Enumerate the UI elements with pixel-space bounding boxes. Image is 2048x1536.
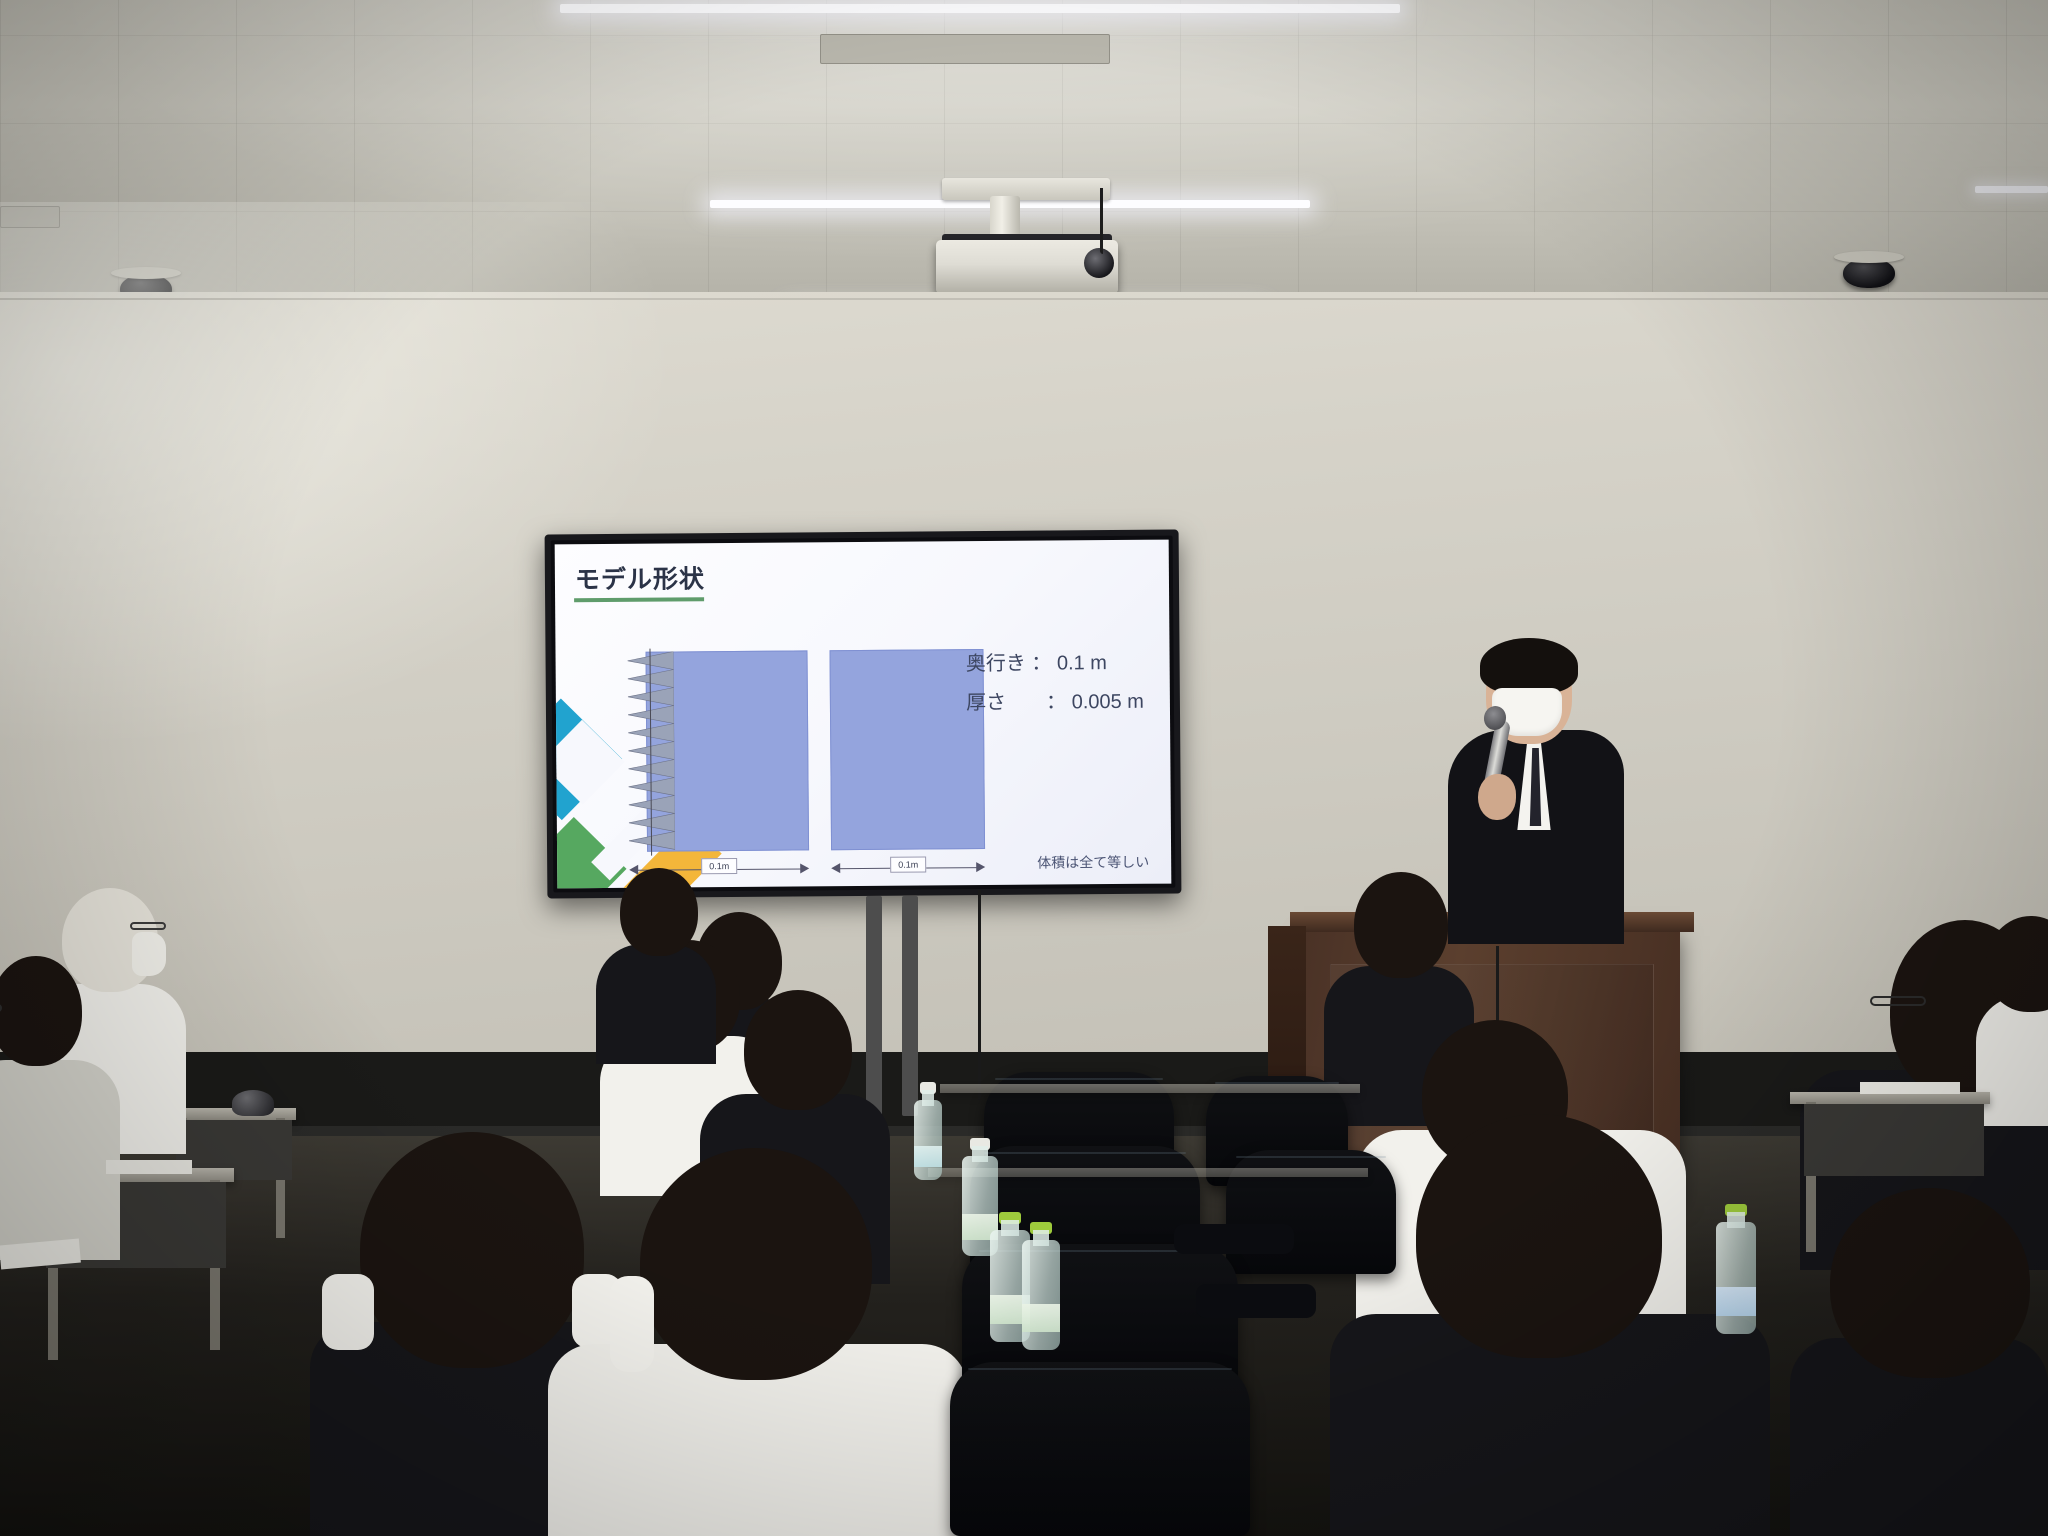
figure-flat-plate: 0.1m 平板 [829,649,985,850]
presenter-hand [1478,774,1516,820]
audience-face-mask [322,1274,374,1350]
chair-rim [968,1368,1232,1370]
paper-sheet [106,1160,192,1174]
audience-head [1986,916,2048,1012]
water-bottle-4 [1022,1222,1060,1350]
dimension-arrow-right-icon [976,862,985,872]
ceiling-light-6 [1975,186,2048,193]
audience-head [0,956,82,1066]
audience-shirt [0,1060,120,1260]
presentation-slide: モデル形状 [555,540,1172,889]
water-bottle-1 [914,1082,942,1180]
audience-head [620,868,698,956]
audience-member-right-edge [1976,916,2048,1116]
audience-suit [596,944,716,1064]
projector-lens-icon [1084,248,1114,278]
audience-member-far-right-front [1790,1188,2048,1536]
figure-notched-plate: 0.1m 切欠き翼平板 [628,650,810,851]
slide-title-underline [574,597,704,602]
audience-shirt [1976,996,2048,1126]
wall-seam [0,298,2048,300]
audience-member-right-front [1330,1114,1770,1536]
flat-plate-dimension: 0.1m [831,857,985,880]
audience-head [1416,1114,1662,1358]
audience-head [640,1148,872,1380]
bottle-label [914,1146,942,1167]
chair-armrest [1174,1224,1294,1254]
ceiling-recess-1 [820,34,1110,64]
chair-rim [1236,1156,1386,1158]
chair-rim [995,1078,1162,1080]
desk-center-row [940,1084,1360,1093]
desk-right-modesty [1804,1104,1984,1176]
dimension-label: 0.1m [890,857,926,873]
bottle-body [914,1100,942,1180]
bottle-body [1716,1222,1756,1334]
slide-footnote: 体積は全て等しい [1037,852,1149,873]
ceiling-projector [928,178,1128,298]
audience-face-mask [610,1276,654,1372]
presenter-hair [1480,638,1578,694]
ceiling-light-1 [560,4,1400,13]
projector-cable [1100,188,1103,254]
bottle-label [1716,1287,1756,1316]
audience-member-row1-left [596,868,716,1048]
water-bottle-5 [1716,1204,1756,1334]
audience-head [1354,872,1448,978]
audience-head [1830,1188,2030,1378]
eyeglasses-icon [1870,996,1926,1006]
dome-camera-right-icon [1843,258,1895,288]
flat-panel-display: モデル形状 [545,530,1182,899]
chair-rim [984,1152,1186,1154]
audience-member-front-center [548,1148,968,1536]
desk-device-icon [232,1090,274,1116]
camera-mount-plate [1834,251,1904,263]
paper-sheet [1860,1082,1960,1094]
flat-plate-body [829,649,985,850]
display-cable-right [978,890,981,1100]
audience-face-mask [132,932,166,976]
bottle-body [1022,1240,1060,1350]
chair-row4 [950,1362,1250,1536]
audience-head [744,990,852,1110]
slide-specs: 奥行き ： 0.1 m 厚さ ： 0.005 m [966,644,1144,723]
dimension-arrow-left-icon [831,863,840,873]
dimension-arrow-right-icon [800,863,809,873]
bottle-label [1022,1304,1060,1333]
audience-member-grey-shirt [0,956,120,1256]
slide-title: モデル形状 [575,559,705,596]
presentation-room-photo: モデル形状 [0,0,2048,1536]
chair-armrest [1196,1284,1316,1318]
eyeglasses-icon [130,922,166,930]
projector-mount-plate [942,178,1110,200]
